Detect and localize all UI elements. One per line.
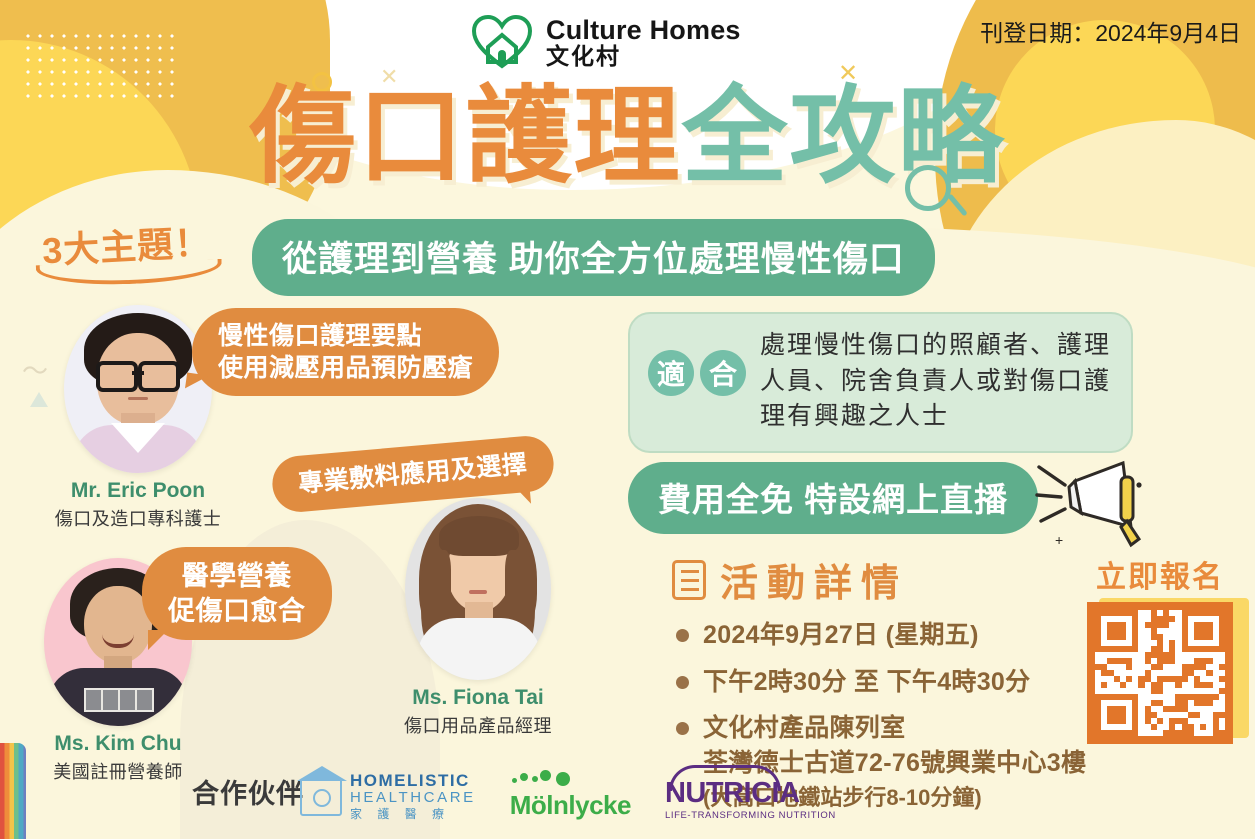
publish-date: 刊登日期：2024年9月4日	[980, 14, 1241, 48]
heart-house-logo-icon	[470, 14, 534, 70]
rainbow-stripe	[0, 743, 26, 839]
speaker-name: Mr. Eric Poon	[48, 479, 228, 503]
homelistic-name-top: HOMELISTIC	[350, 772, 476, 790]
list-item: 2024年9月27日 (星期五)	[676, 618, 1106, 653]
bubble-line-2: 促傷口愈合	[168, 594, 306, 629]
partner-logo-nutricia: NUTRICIA LIFE-TRANSFORMING NUTRITION	[665, 777, 836, 821]
audience-badge-char-1: 適	[648, 350, 694, 396]
partner-logo-molnlycke: Mölnlycke	[510, 770, 631, 821]
topics-badge: 3大主題！	[41, 214, 213, 275]
register-title: 立即報名	[1087, 552, 1233, 596]
magnifier-icon	[905, 165, 951, 211]
audience-line-1: 處理慢性傷口的照顧者、護理	[760, 328, 1111, 364]
speaker-role: 傷口用品產品經理	[388, 712, 568, 738]
partner-logo-homelistic: HOMELISTIC HEALTHCARE 家 護 醫 療	[300, 772, 476, 821]
audience-badges: 適 合	[648, 328, 746, 396]
speaker-name: Ms. Kim Chu	[28, 732, 208, 756]
svg-text:+: +	[1055, 532, 1063, 548]
partner-logos: HOMELISTIC HEALTHCARE 家 護 醫 療 Mölnlycke …	[300, 770, 836, 821]
bubble-line-1: 慢性傷口護理要點	[218, 320, 473, 352]
speaker-name: Ms. Fiona Tai	[388, 686, 568, 710]
audience-description: 處理慢性傷口的照顧者、護理 人員、院舍負責人或對傷口護 理有興趣之人士	[760, 328, 1111, 435]
audience-line-3: 理有興趣之人士	[760, 399, 1111, 435]
nutricia-arc-icon	[669, 765, 781, 791]
speaker-role: 美國註冊營養師	[28, 758, 208, 784]
brand-logo-block: Culture Homes 文化村	[470, 14, 741, 70]
partners-label: 合作伙伴	[192, 772, 304, 811]
bullet-icon	[676, 722, 689, 735]
speaker-role: 傷口及造口專科護士	[48, 505, 228, 531]
subtitle-banner: 從護理到營養 助你全方位處理慢性傷口	[252, 219, 935, 296]
detail-venue-name: 文化村產品陳列室	[703, 711, 1086, 746]
bullet-icon	[676, 676, 689, 689]
speech-bubble-kim: 醫學營養 促傷口愈合	[142, 547, 332, 640]
megaphone-icon: +	[1035, 455, 1145, 550]
qr-code[interactable]	[1087, 602, 1233, 744]
bullet-icon	[676, 629, 689, 642]
free-livestream-banner: 費用全免 特設網上直播	[628, 462, 1038, 534]
bubble-line-1: 醫學營養	[168, 559, 306, 594]
brand-name-zh: 文化村	[546, 44, 741, 68]
brand-name-en: Culture Homes	[546, 16, 741, 44]
avatar	[405, 498, 551, 680]
registration-block[interactable]: 立即報名	[1087, 552, 1233, 744]
detail-date: 2024年9月27日 (星期五)	[703, 618, 979, 653]
list-document-icon	[672, 560, 706, 600]
details-heading-block: 活動詳情	[672, 552, 908, 607]
title-part-orange: 傷口護理	[250, 78, 682, 196]
speech-bubble-eric: 慢性傷口護理要點 使用減壓用品預防壓瘡	[192, 308, 499, 396]
speaker-card-fiona: Ms. Fiona Tai 傷口用品產品經理	[388, 498, 568, 738]
bubble-line-2: 使用減壓用品預防壓瘡	[218, 352, 473, 384]
detail-time: 下午2時30分 至 下午4時30分	[703, 665, 1030, 700]
audience-line-2: 人員、院舍負責人或對傷口護	[760, 364, 1111, 400]
house-logo-icon	[300, 778, 342, 816]
homelistic-name-zh: 家 護 醫 療	[350, 807, 476, 821]
page-title: 傷口護理全攻略	[0, 84, 1255, 190]
details-heading: 活動詳情	[720, 552, 908, 607]
audience-box: 適 合 處理慢性傷口的照顧者、護理 人員、院舍負責人或對傷口護 理有興趣之人士	[628, 312, 1133, 453]
title-part-teal: 全攻略	[682, 78, 1006, 196]
bubble-line-1: 專業敷料應用及選擇	[297, 448, 528, 500]
nutricia-tagline: LIFE-TRANSFORMING NUTRITION	[665, 810, 836, 821]
homelistic-name-mid: HEALTHCARE	[350, 790, 476, 807]
molnlycke-name: Mölnlycke	[510, 790, 631, 821]
audience-badge-char-2: 合	[700, 350, 746, 396]
poster-root: ✕ ✕ 〜 Culture Homes 文化村 刊登日期：2024年9月4日 傷…	[0, 0, 1255, 839]
list-item: 下午2時30分 至 下午4時30分	[676, 665, 1106, 700]
molnlycke-dots-icon	[510, 770, 631, 790]
